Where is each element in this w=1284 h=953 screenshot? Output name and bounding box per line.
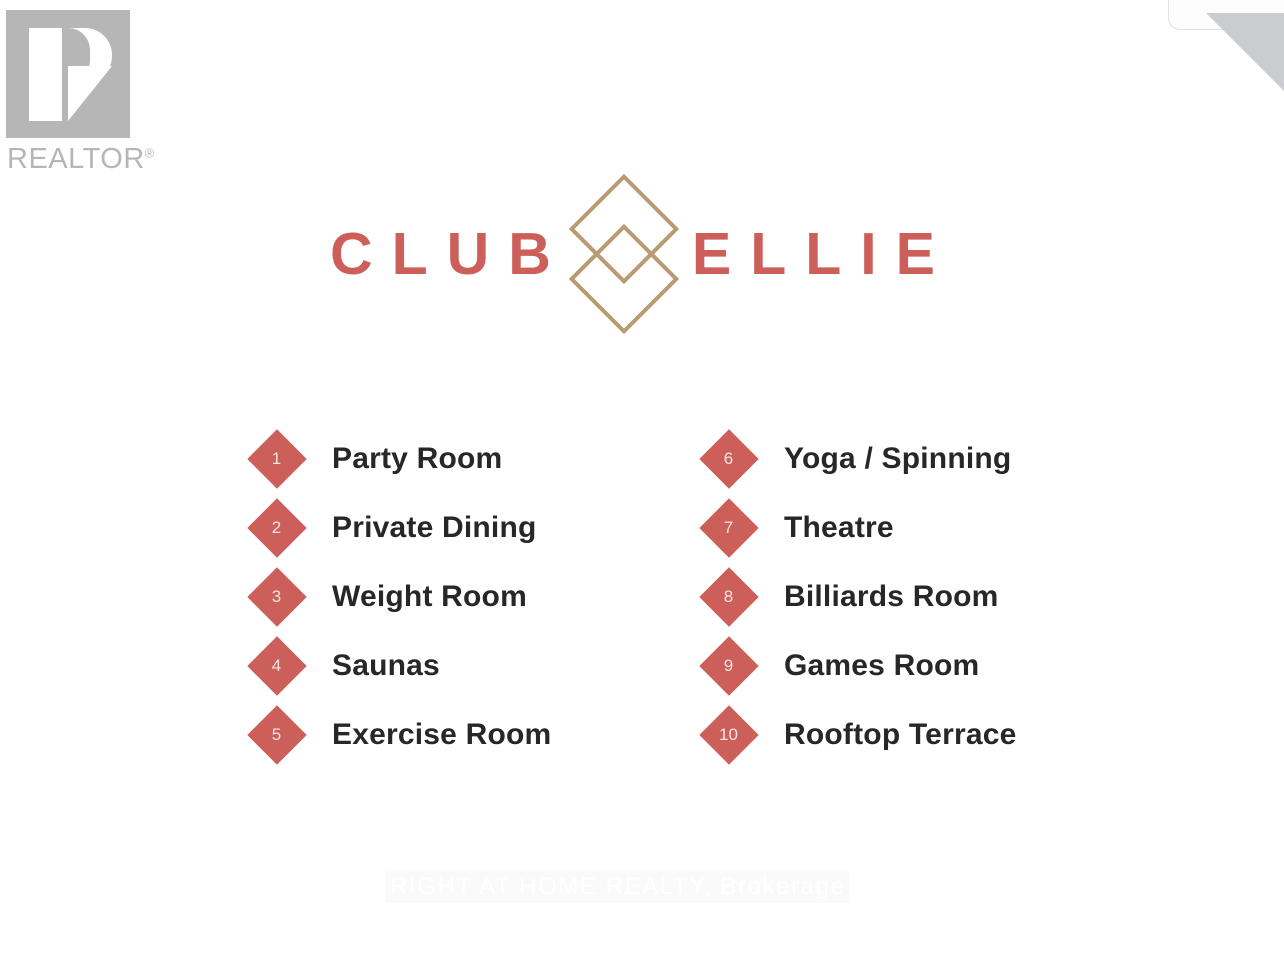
brand-logo-row: CLUB ELLIE [330,178,954,330]
corner-wedge-decoration [1206,13,1284,101]
amenity-label: Games Room [784,649,979,683]
realtor-mark-gap [62,28,68,121]
amenity-number: 5 [247,705,306,764]
amenity-item-yoga-spinning[interactable]: 6 Yoga / Spinning [699,424,1016,493]
amenity-number: 9 [699,636,758,695]
amenity-item-theatre[interactable]: 7 Theatre [699,493,1016,562]
realtor-wordmark-text: REALTOR [7,143,145,175]
amenities-left-column: 1 Party Room 2 Private Dining 3 Weight R… [247,424,551,769]
amenity-label: Billiards Room [784,580,999,614]
amenity-number: 6 [699,429,758,488]
amenity-number: 2 [247,498,306,557]
amenity-number: 3 [247,567,306,626]
amenity-number-badge: 8 [699,567,758,626]
club-ellie-logo: CLUB ELLIE [0,178,1284,330]
amenity-number-badge: 3 [247,567,306,626]
amenity-number-badge: 2 [247,498,306,557]
registered-trademark-icon: ® [145,145,155,160]
amenity-label: Exercise Room [332,718,551,752]
listing-amenities-slide: REALTOR® CLUB ELLIE 1 Party Room [0,0,1284,953]
realtor-mark-leg [68,66,112,121]
amenity-item-weight-room[interactable]: 3 Weight Room [247,562,551,631]
amenity-item-exercise-room[interactable]: 5 Exercise Room [247,700,551,769]
amenity-label: Theatre [784,511,894,545]
amenity-label: Private Dining [332,511,537,545]
brokerage-watermark: RIGHT AT HOME REALTY, Brokerage [386,871,850,903]
amenity-number: 1 [247,429,306,488]
amenity-label: Saunas [332,649,440,683]
amenity-item-party-room[interactable]: 1 Party Room [247,424,551,493]
realtor-wordmark: REALTOR® [7,143,155,176]
amenity-item-private-dining[interactable]: 2 Private Dining [247,493,551,562]
amenity-number-badge: 5 [247,705,306,764]
double-diamond-icon [576,178,672,330]
realtor-logo: REALTOR® [6,10,166,170]
amenity-number-badge: 6 [699,429,758,488]
amenity-item-rooftop-terrace[interactable]: 10 Rooftop Terrace [699,700,1016,769]
amenity-number-badge: 1 [247,429,306,488]
amenities-right-column: 6 Yoga / Spinning 7 Theatre 8 Billiards … [699,424,1016,769]
brand-word-club: CLUB [330,225,570,284]
brand-word-ellie: ELLIE [692,225,954,284]
realtor-mark-stem [29,28,62,121]
amenity-item-games-room[interactable]: 9 Games Room [699,631,1016,700]
amenity-number-badge: 7 [699,498,758,557]
amenity-label: Party Room [332,442,502,476]
realtor-r-mark-icon [6,10,130,138]
amenity-number-badge: 10 [699,705,758,764]
amenity-label: Rooftop Terrace [784,718,1016,752]
amenity-item-saunas[interactable]: 4 Saunas [247,631,551,700]
amenity-label: Weight Room [332,580,527,614]
amenity-number-badge: 9 [699,636,758,695]
amenity-label: Yoga / Spinning [784,442,1011,476]
amenity-number: 10 [699,705,758,764]
amenity-number: 8 [699,567,758,626]
amenity-number-badge: 4 [247,636,306,695]
grey-triangle-icon [1206,13,1284,101]
amenity-item-billiards-room[interactable]: 8 Billiards Room [699,562,1016,631]
amenity-number: 7 [699,498,758,557]
amenity-number: 4 [247,636,306,695]
